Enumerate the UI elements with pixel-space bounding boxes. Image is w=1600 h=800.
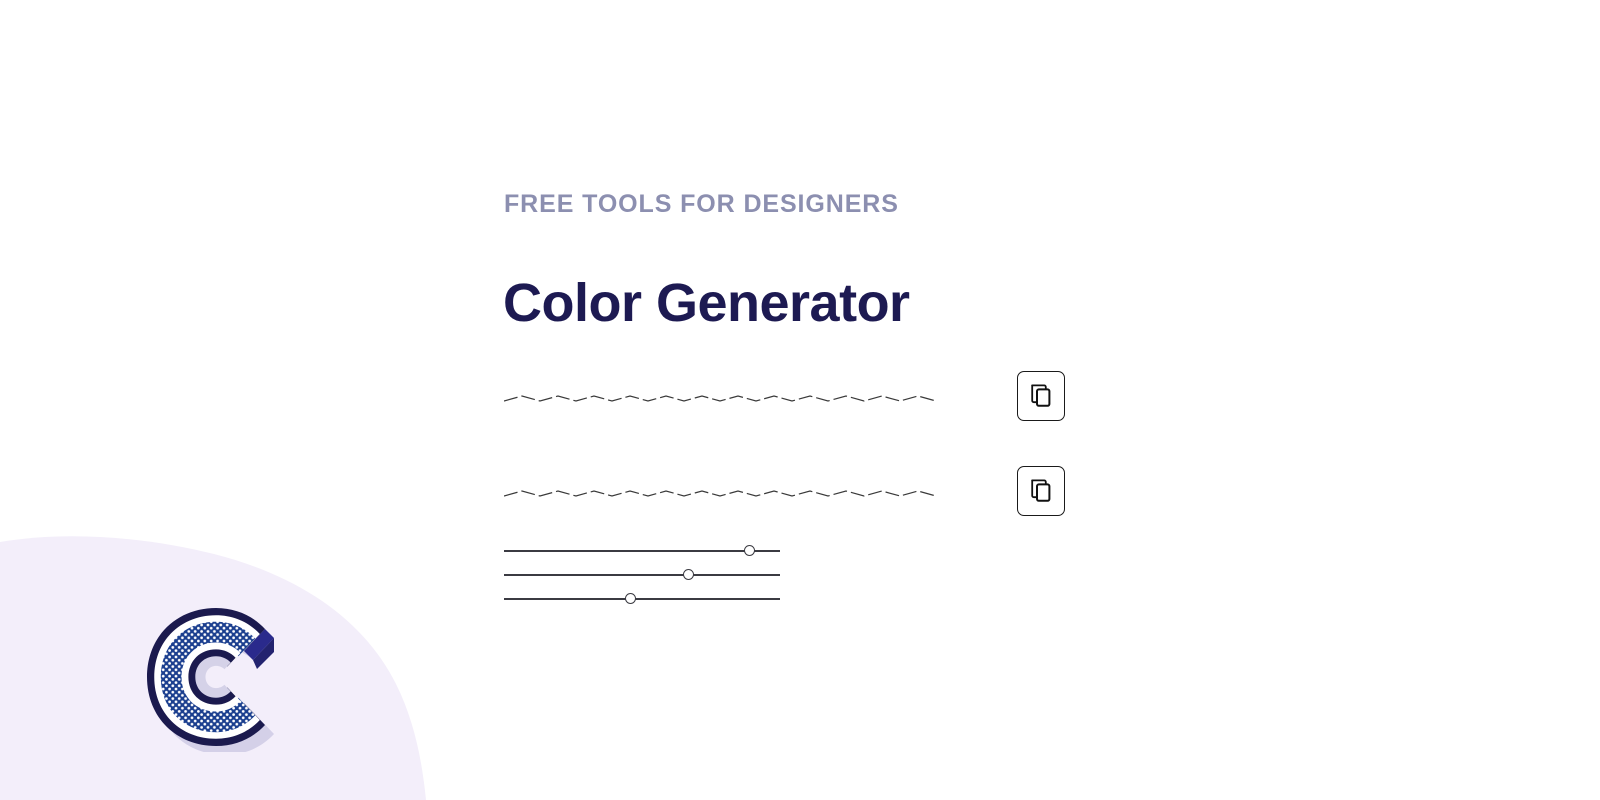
copy-icon xyxy=(1029,478,1053,504)
copy-primary-button[interactable] xyxy=(1017,371,1065,421)
squiggle-placeholder-primary xyxy=(504,387,936,409)
page-title: Color Generator xyxy=(503,270,910,336)
copy-secondary-button[interactable] xyxy=(1017,466,1065,516)
slider-thumb[interactable] xyxy=(683,569,694,580)
page-eyebrow: FREE TOOLS FOR DESIGNERS xyxy=(504,189,899,219)
squiggle-placeholder-secondary xyxy=(504,482,936,504)
color-value-primary[interactable] xyxy=(504,387,936,409)
slider-track[interactable] xyxy=(504,574,780,576)
copy-icon xyxy=(1029,383,1053,409)
color-generator-c-logo xyxy=(140,602,292,752)
slider-thumb[interactable] xyxy=(625,593,636,604)
slider-channel-2[interactable] xyxy=(504,566,780,584)
color-value-secondary[interactable] xyxy=(504,482,936,504)
app-canvas: FREE TOOLS FOR DESIGNERS Color Generator xyxy=(0,0,1600,800)
slider-track[interactable] xyxy=(504,550,780,552)
slider-track[interactable] xyxy=(504,598,780,600)
slider-thumb[interactable] xyxy=(744,545,755,556)
channel-slider-group xyxy=(504,540,780,612)
slider-channel-1[interactable] xyxy=(504,542,780,560)
slider-channel-3[interactable] xyxy=(504,590,780,608)
